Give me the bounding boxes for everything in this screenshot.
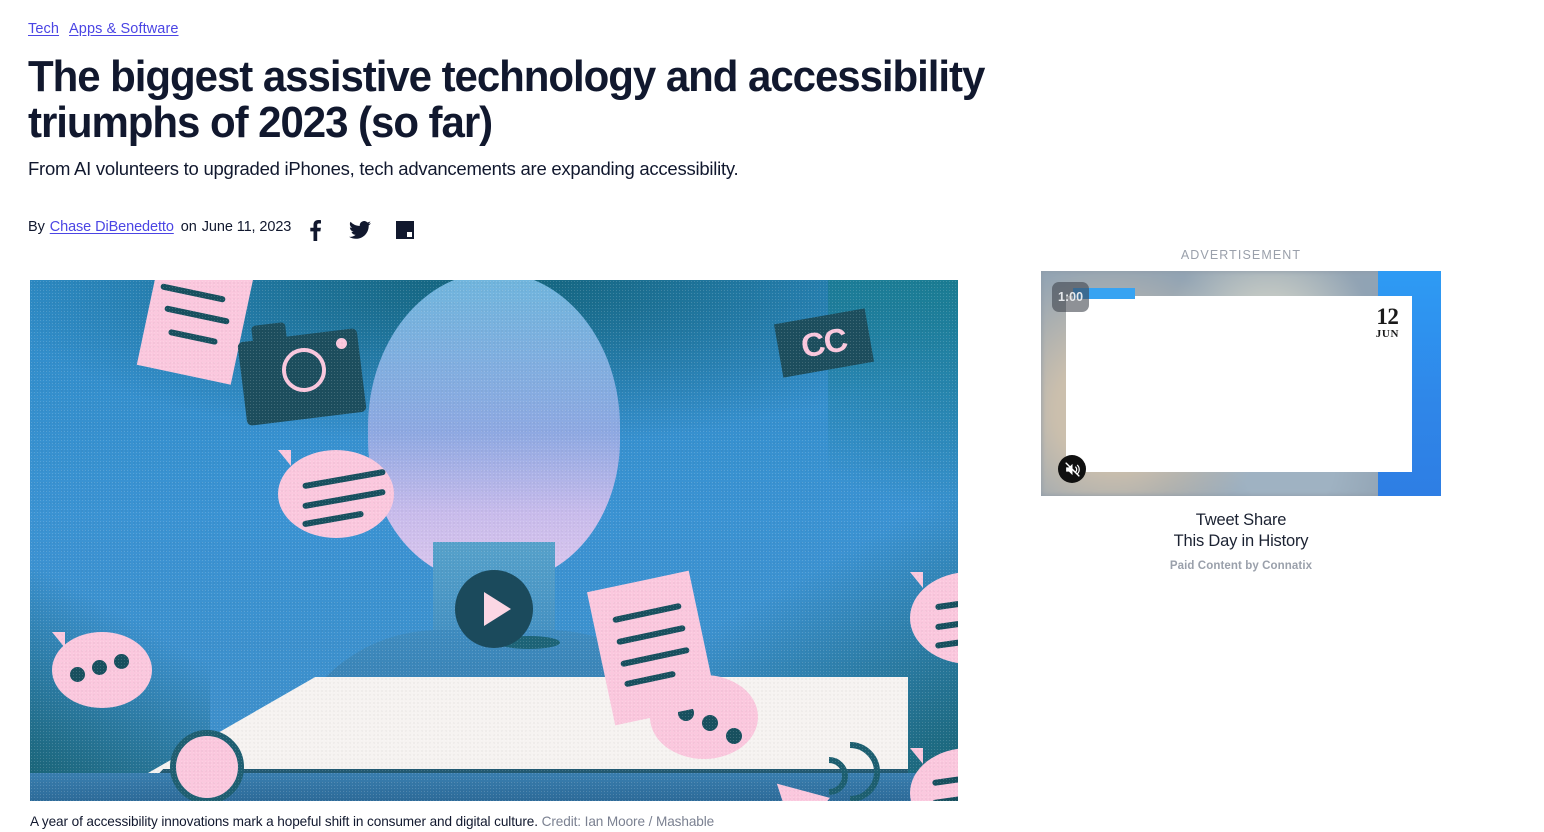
ad-video-player[interactable]: 1:00 12 JUN xyxy=(1041,271,1441,496)
ad-title-line2[interactable]: This Day in History xyxy=(1041,531,1441,552)
article-subtitle: From AI volunteers to upgraded iPhones, … xyxy=(28,157,928,181)
flipboard-share-icon[interactable] xyxy=(394,218,416,242)
facebook-share-icon[interactable] xyxy=(304,218,326,242)
ad-title-line1[interactable]: Tweet Share xyxy=(1041,510,1441,531)
ad-date-month: JUN xyxy=(1376,328,1399,340)
byline: By Chase DiBenedetto on June 11, 2023 xyxy=(28,219,291,235)
hero-illustration: CC xyxy=(30,280,958,801)
ad-timer-text: 1:00 xyxy=(1058,290,1083,304)
hero-caption-text: A year of accessibility innovations mark… xyxy=(30,814,538,829)
ad-paid-by: Paid Content by Connatix xyxy=(1041,560,1441,572)
hero-figure: CC A year of accessibility innovations m… xyxy=(30,280,958,831)
hero-caption-credit: Credit: Ian Moore / Mashable xyxy=(542,814,715,829)
ad-countdown-timer: 1:00 xyxy=(1052,282,1089,312)
mute-icon[interactable] xyxy=(1058,455,1086,483)
ad-date-display: 12 JUN xyxy=(1376,306,1399,340)
hero-caption: A year of accessibility innovations mark… xyxy=(30,813,958,831)
advertisement-panel: ADVERTISEMENT 1:00 12 JUN xyxy=(1041,248,1441,572)
byline-date-prefix: on xyxy=(181,219,197,235)
advertisement-label: ADVERTISEMENT xyxy=(1041,248,1441,262)
share-row xyxy=(304,218,416,242)
ad-caption: Tweet Share This Day in History Paid Con… xyxy=(1041,510,1441,572)
play-triangle-icon xyxy=(484,592,511,626)
ad-white-card: 12 JUN xyxy=(1066,296,1412,472)
article-page: Tech Apps & Software The biggest assisti… xyxy=(0,0,1544,832)
page-title: The biggest assistive technology and acc… xyxy=(28,54,1040,146)
hero-video-thumbnail[interactable]: CC xyxy=(30,280,958,801)
twitter-share-icon[interactable] xyxy=(349,218,371,242)
ad-date-day: 12 xyxy=(1376,306,1399,328)
breadcrumb: Tech Apps & Software xyxy=(28,20,179,38)
play-button[interactable] xyxy=(455,570,533,648)
author-link[interactable]: Chase DiBenedetto xyxy=(50,219,174,235)
breadcrumb-item-tech[interactable]: Tech xyxy=(28,20,59,38)
byline-by-label: By xyxy=(28,219,45,235)
publish-date: June 11, 2023 xyxy=(202,219,292,235)
breadcrumb-item-apps-software[interactable]: Apps & Software xyxy=(69,20,179,38)
